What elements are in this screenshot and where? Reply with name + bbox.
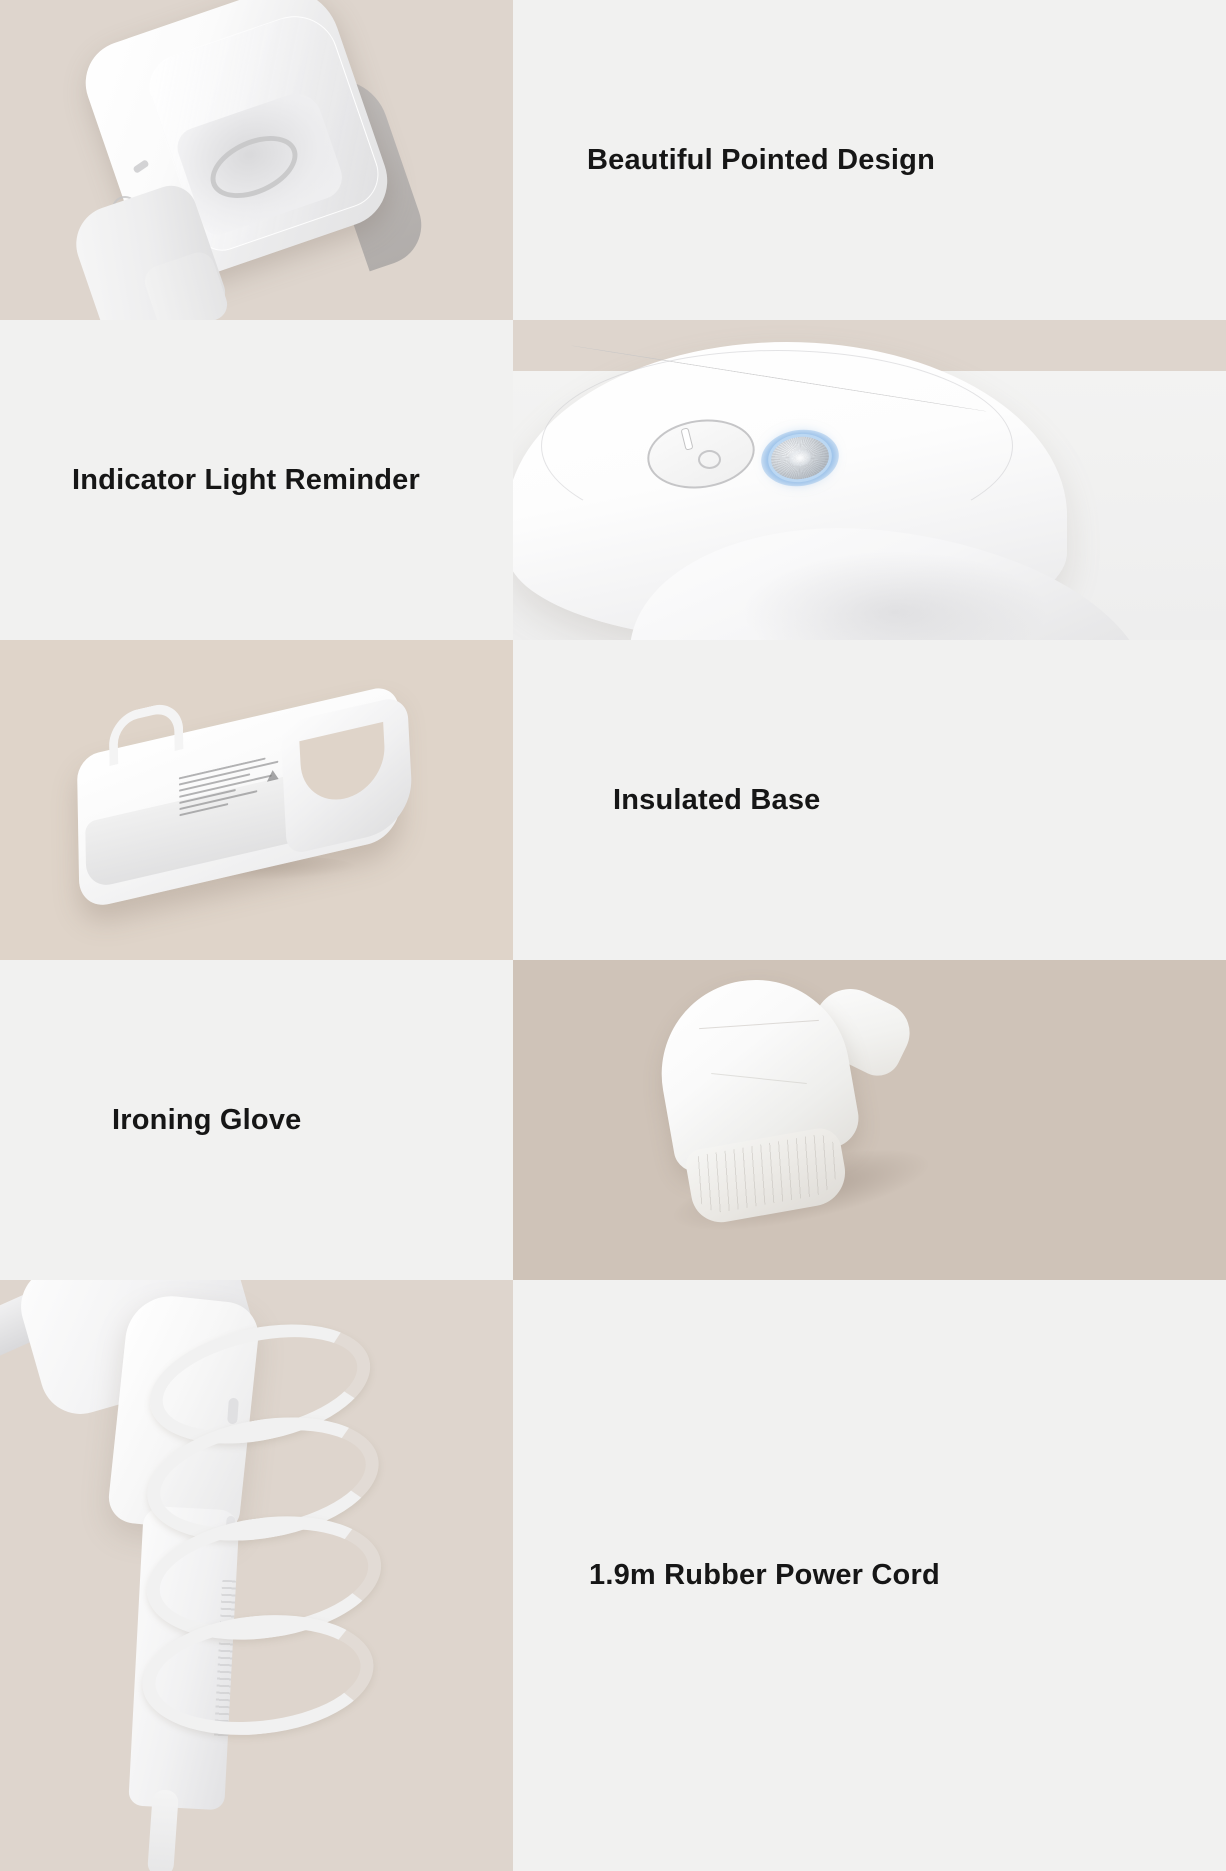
feature-label-pointed-design: Beautiful Pointed Design: [575, 143, 935, 178]
power-icon-ring: [698, 450, 721, 469]
feature-image-power-cord: [0, 1280, 513, 1871]
feature-text-indicator-light: Indicator Light Reminder: [0, 320, 513, 640]
feature-text-ironing-glove: Ironing Glove: [0, 960, 513, 1280]
feature-row-indicator-light: Indicator Light Reminder: [0, 320, 1226, 640]
feature-row-ironing-glove: Ironing Glove: [0, 960, 1226, 1280]
warning-triangle-icon: [267, 769, 279, 782]
feature-text-insulated-base: Insulated Base: [513, 640, 1226, 960]
feature-label-indicator-light: Indicator Light Reminder: [72, 463, 420, 498]
feature-grid: Beautiful Pointed Design Indicator Light…: [0, 0, 1226, 1871]
steamer-head-photo: [0, 0, 513, 320]
cord-tail: [147, 1789, 179, 1871]
feature-label-ironing-glove: Ironing Glove: [72, 1103, 302, 1138]
feature-image-ironing-glove: [513, 960, 1226, 1280]
feature-row-pointed-design: Beautiful Pointed Design: [0, 0, 1226, 320]
feature-text-power-cord: 1.9m Rubber Power Cord: [513, 1280, 1226, 1871]
control-panel-photo: [513, 320, 1226, 640]
insulated-base-photo: [0, 640, 513, 960]
feature-label-insulated-base: Insulated Base: [575, 783, 821, 818]
feature-row-power-cord: 1.9m Rubber Power Cord: [0, 1280, 1226, 1871]
feature-image-insulated-base: [0, 640, 513, 960]
ironing-glove-photo: [513, 960, 1226, 1280]
feature-text-pointed-design: Beautiful Pointed Design: [513, 0, 1226, 320]
feature-image-pointed-design: [0, 0, 513, 320]
power-cord-photo: [0, 1280, 513, 1871]
feature-row-insulated-base: Insulated Base: [0, 640, 1226, 960]
feature-label-power-cord: 1.9m Rubber Power Cord: [575, 1558, 940, 1593]
feature-image-indicator-light: [513, 320, 1226, 640]
